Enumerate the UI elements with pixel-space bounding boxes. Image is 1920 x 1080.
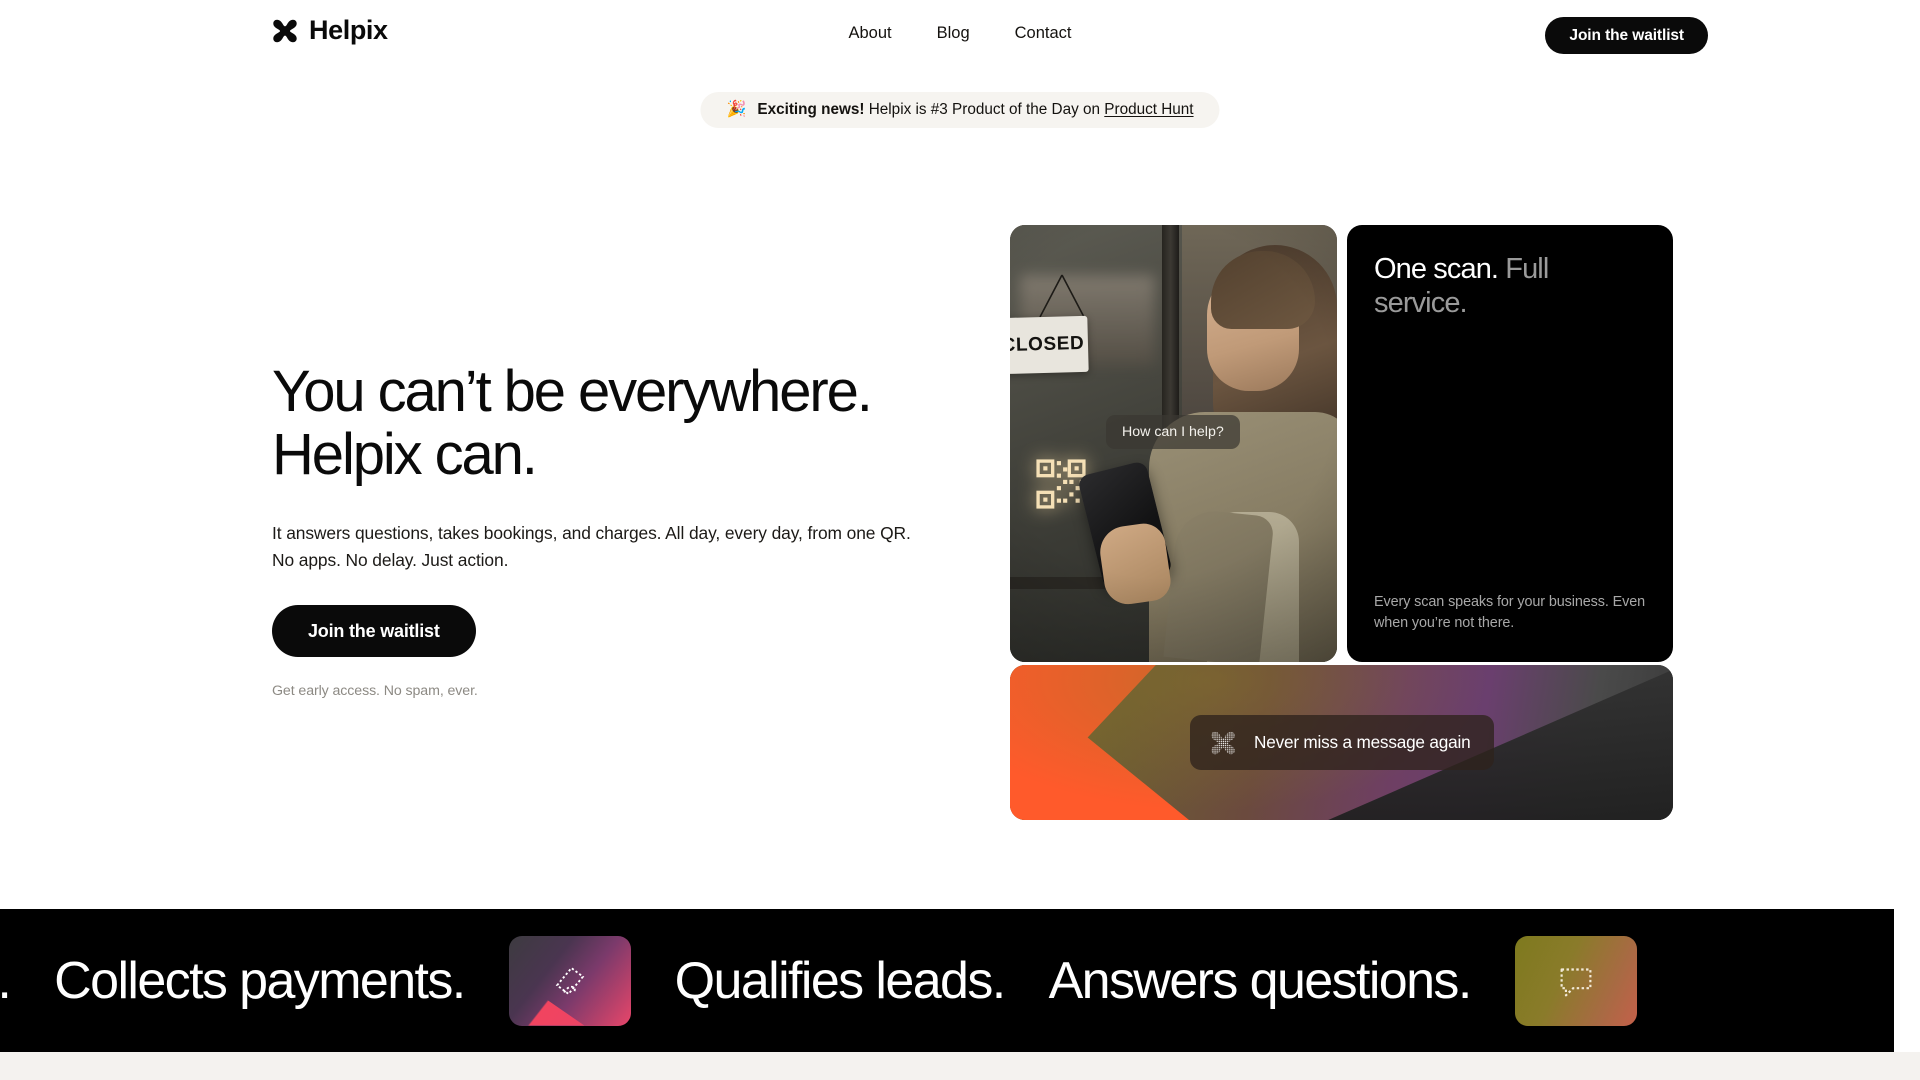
hero-visuals: CLOSED bbox=[1010, 225, 1673, 820]
hero-join-waitlist-button[interactable]: Join the waitlist bbox=[272, 605, 476, 657]
tap-to-pay-icon bbox=[547, 958, 593, 1004]
bottom-strip bbox=[0, 1052, 1920, 1080]
hero-title-line-2: Helpix can. bbox=[272, 422, 536, 487]
gradient-banner-card: Never miss a message again bbox=[1010, 665, 1673, 820]
marquee-item-answers-questions: Answers questions. bbox=[1049, 955, 1471, 1007]
one-scan-card-title: One scan. Full service. bbox=[1374, 253, 1646, 320]
person-hand bbox=[1097, 521, 1173, 607]
announcement-bold-text: Exciting news! bbox=[757, 101, 864, 118]
person-arm bbox=[1163, 507, 1274, 662]
marquee-item-qualifies-leads: Qualifies leads. bbox=[675, 955, 1005, 1007]
site-header: Helpix About Blog Contact Join the waitl… bbox=[0, 0, 1920, 70]
chat-bubble-icon-tile bbox=[1515, 936, 1637, 1026]
never-miss-message-text: Never miss a message again bbox=[1254, 732, 1470, 753]
page-title: You can’t be everywhere. Helpix can. bbox=[272, 360, 932, 486]
photo-scene: CLOSED bbox=[1010, 225, 1337, 662]
hero-photo-card: CLOSED bbox=[1010, 225, 1337, 662]
hero-note: Get early access. No spam, ever. bbox=[272, 683, 932, 699]
tap-to-pay-icon-tile bbox=[509, 936, 631, 1026]
nav-link-blog[interactable]: Blog bbox=[937, 24, 970, 44]
feature-marquee-band: 7. Collects payments. Qualifies leads. A… bbox=[0, 909, 1894, 1052]
party-popper-icon: 🎉 bbox=[726, 102, 746, 118]
marquee-item-clipped: 7. bbox=[0, 955, 10, 1007]
announcement-body-text: Helpix is #3 Product of the Day on bbox=[864, 101, 1104, 118]
header-join-waitlist-button[interactable]: Join the waitlist bbox=[1545, 17, 1708, 54]
one-scan-card: One scan. Full service. Every scan speak… bbox=[1347, 225, 1673, 662]
chat-bubble: How can I help? bbox=[1106, 415, 1240, 449]
hero-subtitle: It answers questions, takes bookings, an… bbox=[272, 520, 924, 573]
sign-strings-icon bbox=[1034, 273, 1090, 319]
never-miss-message-pill: Never miss a message again bbox=[1190, 715, 1494, 770]
closed-sign: CLOSED bbox=[1010, 316, 1089, 374]
one-scan-title-primary: One scan. bbox=[1374, 253, 1498, 285]
marquee-item-collects-payments: Collects payments. bbox=[54, 955, 464, 1007]
product-hunt-link[interactable]: Product Hunt bbox=[1104, 101, 1193, 118]
nav-link-contact[interactable]: Contact bbox=[1015, 24, 1072, 44]
helpix-dotted-x-icon bbox=[1210, 730, 1236, 756]
marquee-track: 7. Collects payments. Qualifies leads. A… bbox=[0, 909, 1637, 1052]
closed-sign-text: CLOSED bbox=[1010, 333, 1085, 357]
hero-title-line-1: You can’t be everywhere. bbox=[272, 359, 871, 424]
chat-bubble-icon bbox=[1553, 958, 1599, 1004]
nav-link-about[interactable]: About bbox=[848, 24, 891, 44]
announcement-text: Exciting news! Helpix is #3 Product of t… bbox=[757, 102, 1193, 117]
hero-copy: You can’t be everywhere. Helpix can. It … bbox=[272, 360, 932, 699]
announcement-banner[interactable]: 🎉 Exciting news! Helpix is #3 Product of… bbox=[700, 92, 1219, 128]
one-scan-card-note: Every scan speaks for your business. Eve… bbox=[1374, 592, 1646, 634]
